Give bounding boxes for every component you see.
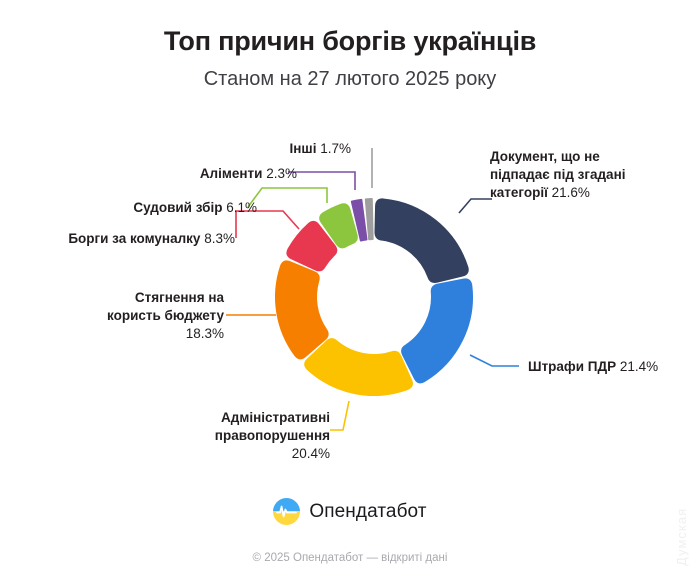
leader-line-court-fee xyxy=(248,188,327,207)
leader-line-admin xyxy=(330,401,349,430)
brand-footer: Опендатабот xyxy=(0,498,700,525)
slice-label-other-name: Інші xyxy=(290,141,317,156)
slice-label-document-line2: підпадає під згадані xyxy=(490,166,675,184)
leader-line-traffic xyxy=(470,355,519,366)
slice-label-traffic-name: Штрафи ПДР xyxy=(528,359,616,374)
slice-label-document-line3: категорії 21.6% xyxy=(490,184,675,202)
slice-label-admin: Адміністративні правопорушення 20.4% xyxy=(160,409,330,463)
copyright-text: © 2025 Опендатабот — відкриті дані xyxy=(0,552,700,564)
slice-label-traffic: Штрафи ПДР 21.4% xyxy=(528,358,658,376)
slice-label-admin-line2: правопорушення xyxy=(160,427,330,445)
infographic-root: Топ причин боргів українців Станом на 27… xyxy=(0,0,700,583)
slice-label-budget-line1: Стягнення на xyxy=(64,289,224,307)
donut-segment xyxy=(375,199,467,282)
slice-label-alimony-pct: 2.3% xyxy=(266,166,297,181)
slice-label-other: Інші 1.7% xyxy=(290,140,351,158)
donut-segment xyxy=(402,279,472,382)
slice-label-document-pct: 21.6% xyxy=(552,185,590,200)
slice-label-court-fee: Судовий збір 6.1% xyxy=(133,199,257,217)
slice-label-other-pct: 1.7% xyxy=(320,141,351,156)
slice-label-traffic-pct: 21.4% xyxy=(620,359,658,374)
donut-segments xyxy=(276,199,472,395)
donut-segment xyxy=(305,339,412,395)
opendatabot-logo-icon xyxy=(273,498,300,525)
slice-label-admin-pct: 20.4% xyxy=(160,445,330,463)
slice-label-budget-line2: користь бюджету xyxy=(64,307,224,325)
slice-label-court-fee-name: Судовий збір xyxy=(133,200,222,215)
brand-name: Опендатабот xyxy=(309,501,426,523)
slice-label-document: Документ, що не підпадає під згадані кат… xyxy=(490,148,675,202)
watermark: Думская xyxy=(674,492,698,582)
donut-segment xyxy=(366,199,373,239)
slice-label-budget-pct: 18.3% xyxy=(64,325,224,343)
slice-label-budget: Стягнення на користь бюджету 18.3% xyxy=(64,289,224,343)
slice-label-utilities-pct: 8.3% xyxy=(204,231,235,246)
slice-label-alimony-name: Аліменти xyxy=(200,166,263,181)
donut-segment xyxy=(276,261,328,358)
leader-line-document xyxy=(459,199,492,213)
slice-label-alimony: Аліменти 2.3% xyxy=(200,165,297,183)
slice-label-court-fee-pct: 6.1% xyxy=(226,200,257,215)
slice-label-utilities: Борги за комуналку 8.3% xyxy=(68,230,235,248)
slice-label-document-line1: Документ, що не xyxy=(490,148,675,166)
slice-label-utilities-name: Борги за комуналку xyxy=(68,231,200,246)
slice-label-admin-line1: Адміністративні xyxy=(160,409,330,427)
